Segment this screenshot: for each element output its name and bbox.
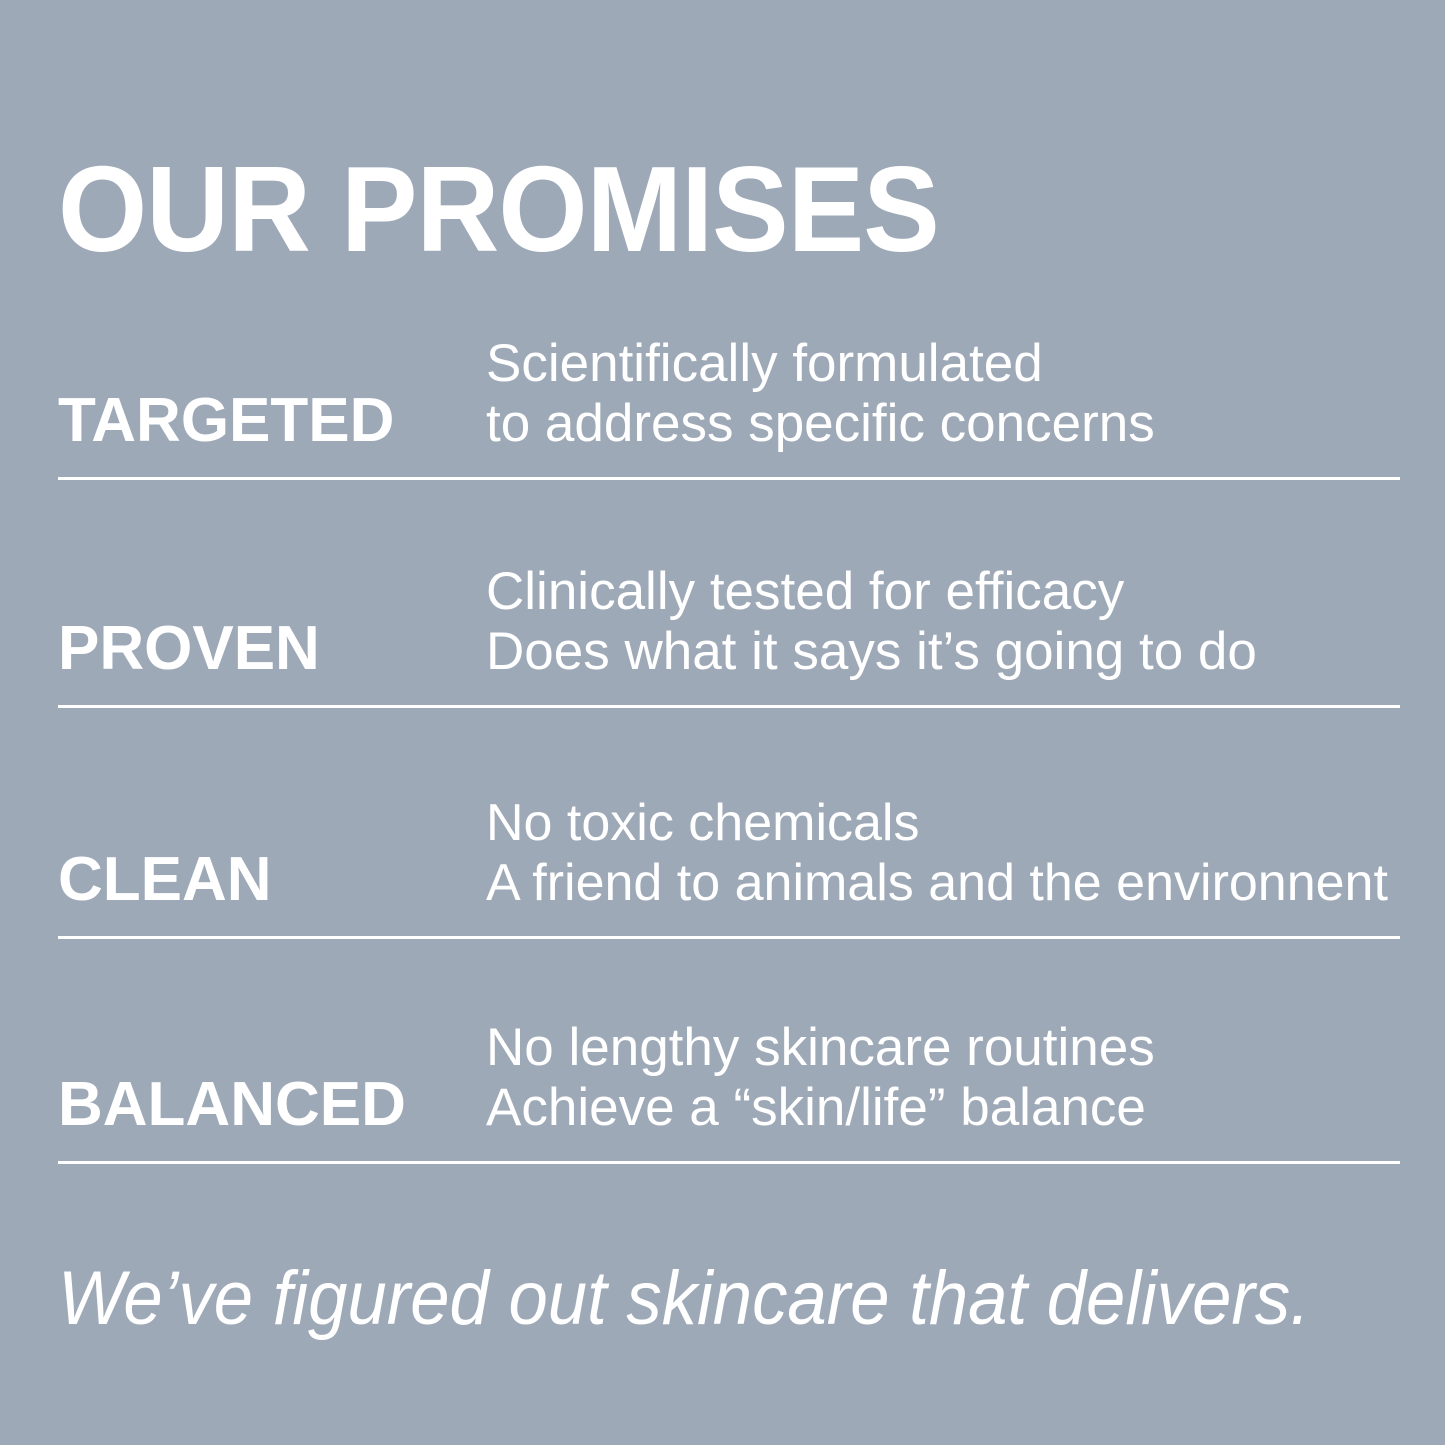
promise-description-line-2: A friend to animals and the environnent	[486, 853, 1400, 913]
promise-description-line-2: to address specific concerns	[486, 394, 1400, 454]
promise-label-proven: PROVEN	[58, 618, 486, 682]
our-promises-card: OUR PROMISES TARGETED Scientifically for…	[0, 0, 1445, 1445]
promise-description-line-2: Achieve a “skin/life” balance	[486, 1078, 1400, 1138]
promise-label-targeted: TARGETED	[58, 390, 486, 454]
promises-list: TARGETED Scientifically formulated to ad…	[0, 258, 1445, 1164]
footer-tagline: We’ve figured out skincare that delivers…	[58, 1256, 1310, 1342]
promise-row-proven: PROVEN Clinically tested for efficacy Do…	[0, 480, 1445, 708]
promise-description-balanced: No lengthy skincare routines Achieve a “…	[486, 1018, 1400, 1138]
promise-label-balanced: BALANCED	[58, 1074, 486, 1138]
promise-row-balanced: BALANCED No lengthy skincare routines Ac…	[0, 939, 1445, 1164]
page-title: OUR PROMISES	[58, 148, 939, 270]
promise-description-line-1: No lengthy skincare routines	[486, 1018, 1400, 1078]
row-divider	[58, 1161, 1400, 1164]
promise-description-clean: No toxic chemicals A friend to animals a…	[486, 793, 1400, 913]
promise-description-line-1: Scientifically formulated	[486, 334, 1400, 394]
promise-description-line-1: Clinically tested for efficacy	[486, 562, 1400, 622]
promise-label-clean: CLEAN	[58, 849, 486, 913]
promise-description-proven: Clinically tested for efficacy Does what…	[486, 562, 1400, 682]
promise-row-clean: CLEAN No toxic chemicals A friend to ani…	[0, 708, 1445, 939]
promise-description-line-1: No toxic chemicals	[486, 793, 1400, 853]
promise-row-targeted: TARGETED Scientifically formulated to ad…	[0, 258, 1445, 480]
promise-description-line-2: Does what it says it’s going to do	[486, 622, 1400, 682]
promise-description-targeted: Scientifically formulated to address spe…	[486, 334, 1400, 454]
